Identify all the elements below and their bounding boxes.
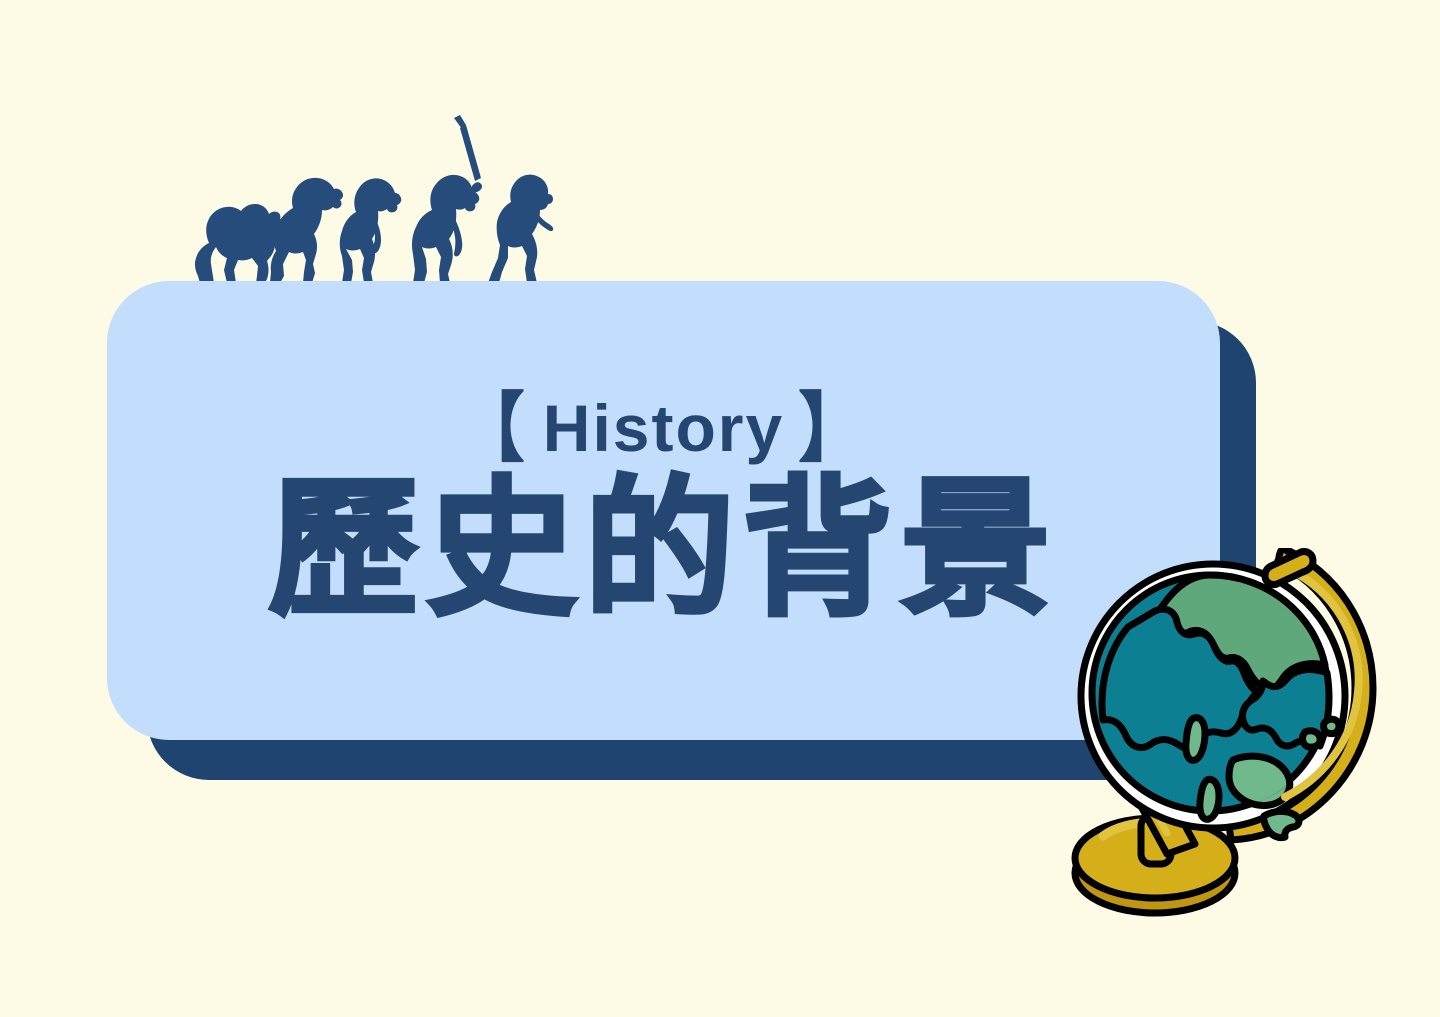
bracket-right: 】: [798, 390, 868, 466]
figure-modern-human: [488, 175, 553, 283]
figure-spear-hominid: [412, 175, 479, 283]
spear-shaft-lower: [460, 125, 481, 181]
eyebrow-label: History: [529, 395, 798, 461]
island-sliver-left: [1186, 718, 1205, 761]
evolution-figures: [195, 115, 553, 283]
globe-graphic: [1075, 548, 1373, 913]
island-large-south: [1229, 756, 1290, 805]
card-text-block: 【History】 歷史的背景: [107, 281, 1220, 740]
island-small-a: [1302, 731, 1320, 747]
island-branch-se: [1264, 811, 1299, 837]
poster-canvas: 【History】 歷史的背景: [0, 0, 1440, 1017]
evolution-illustration: [170, 100, 570, 290]
island-sliver-mid: [1200, 779, 1219, 819]
eyebrow-line: 【History】: [459, 395, 868, 461]
headline-title: 歷史的背景: [268, 473, 1058, 626]
figure-upright-hominid: [340, 178, 402, 283]
figure-spear-hominid-arm: [472, 182, 482, 192]
globe-illustration: [1055, 548, 1385, 938]
bracket-left: 【: [459, 390, 529, 466]
island-small-b: [1324, 719, 1339, 733]
